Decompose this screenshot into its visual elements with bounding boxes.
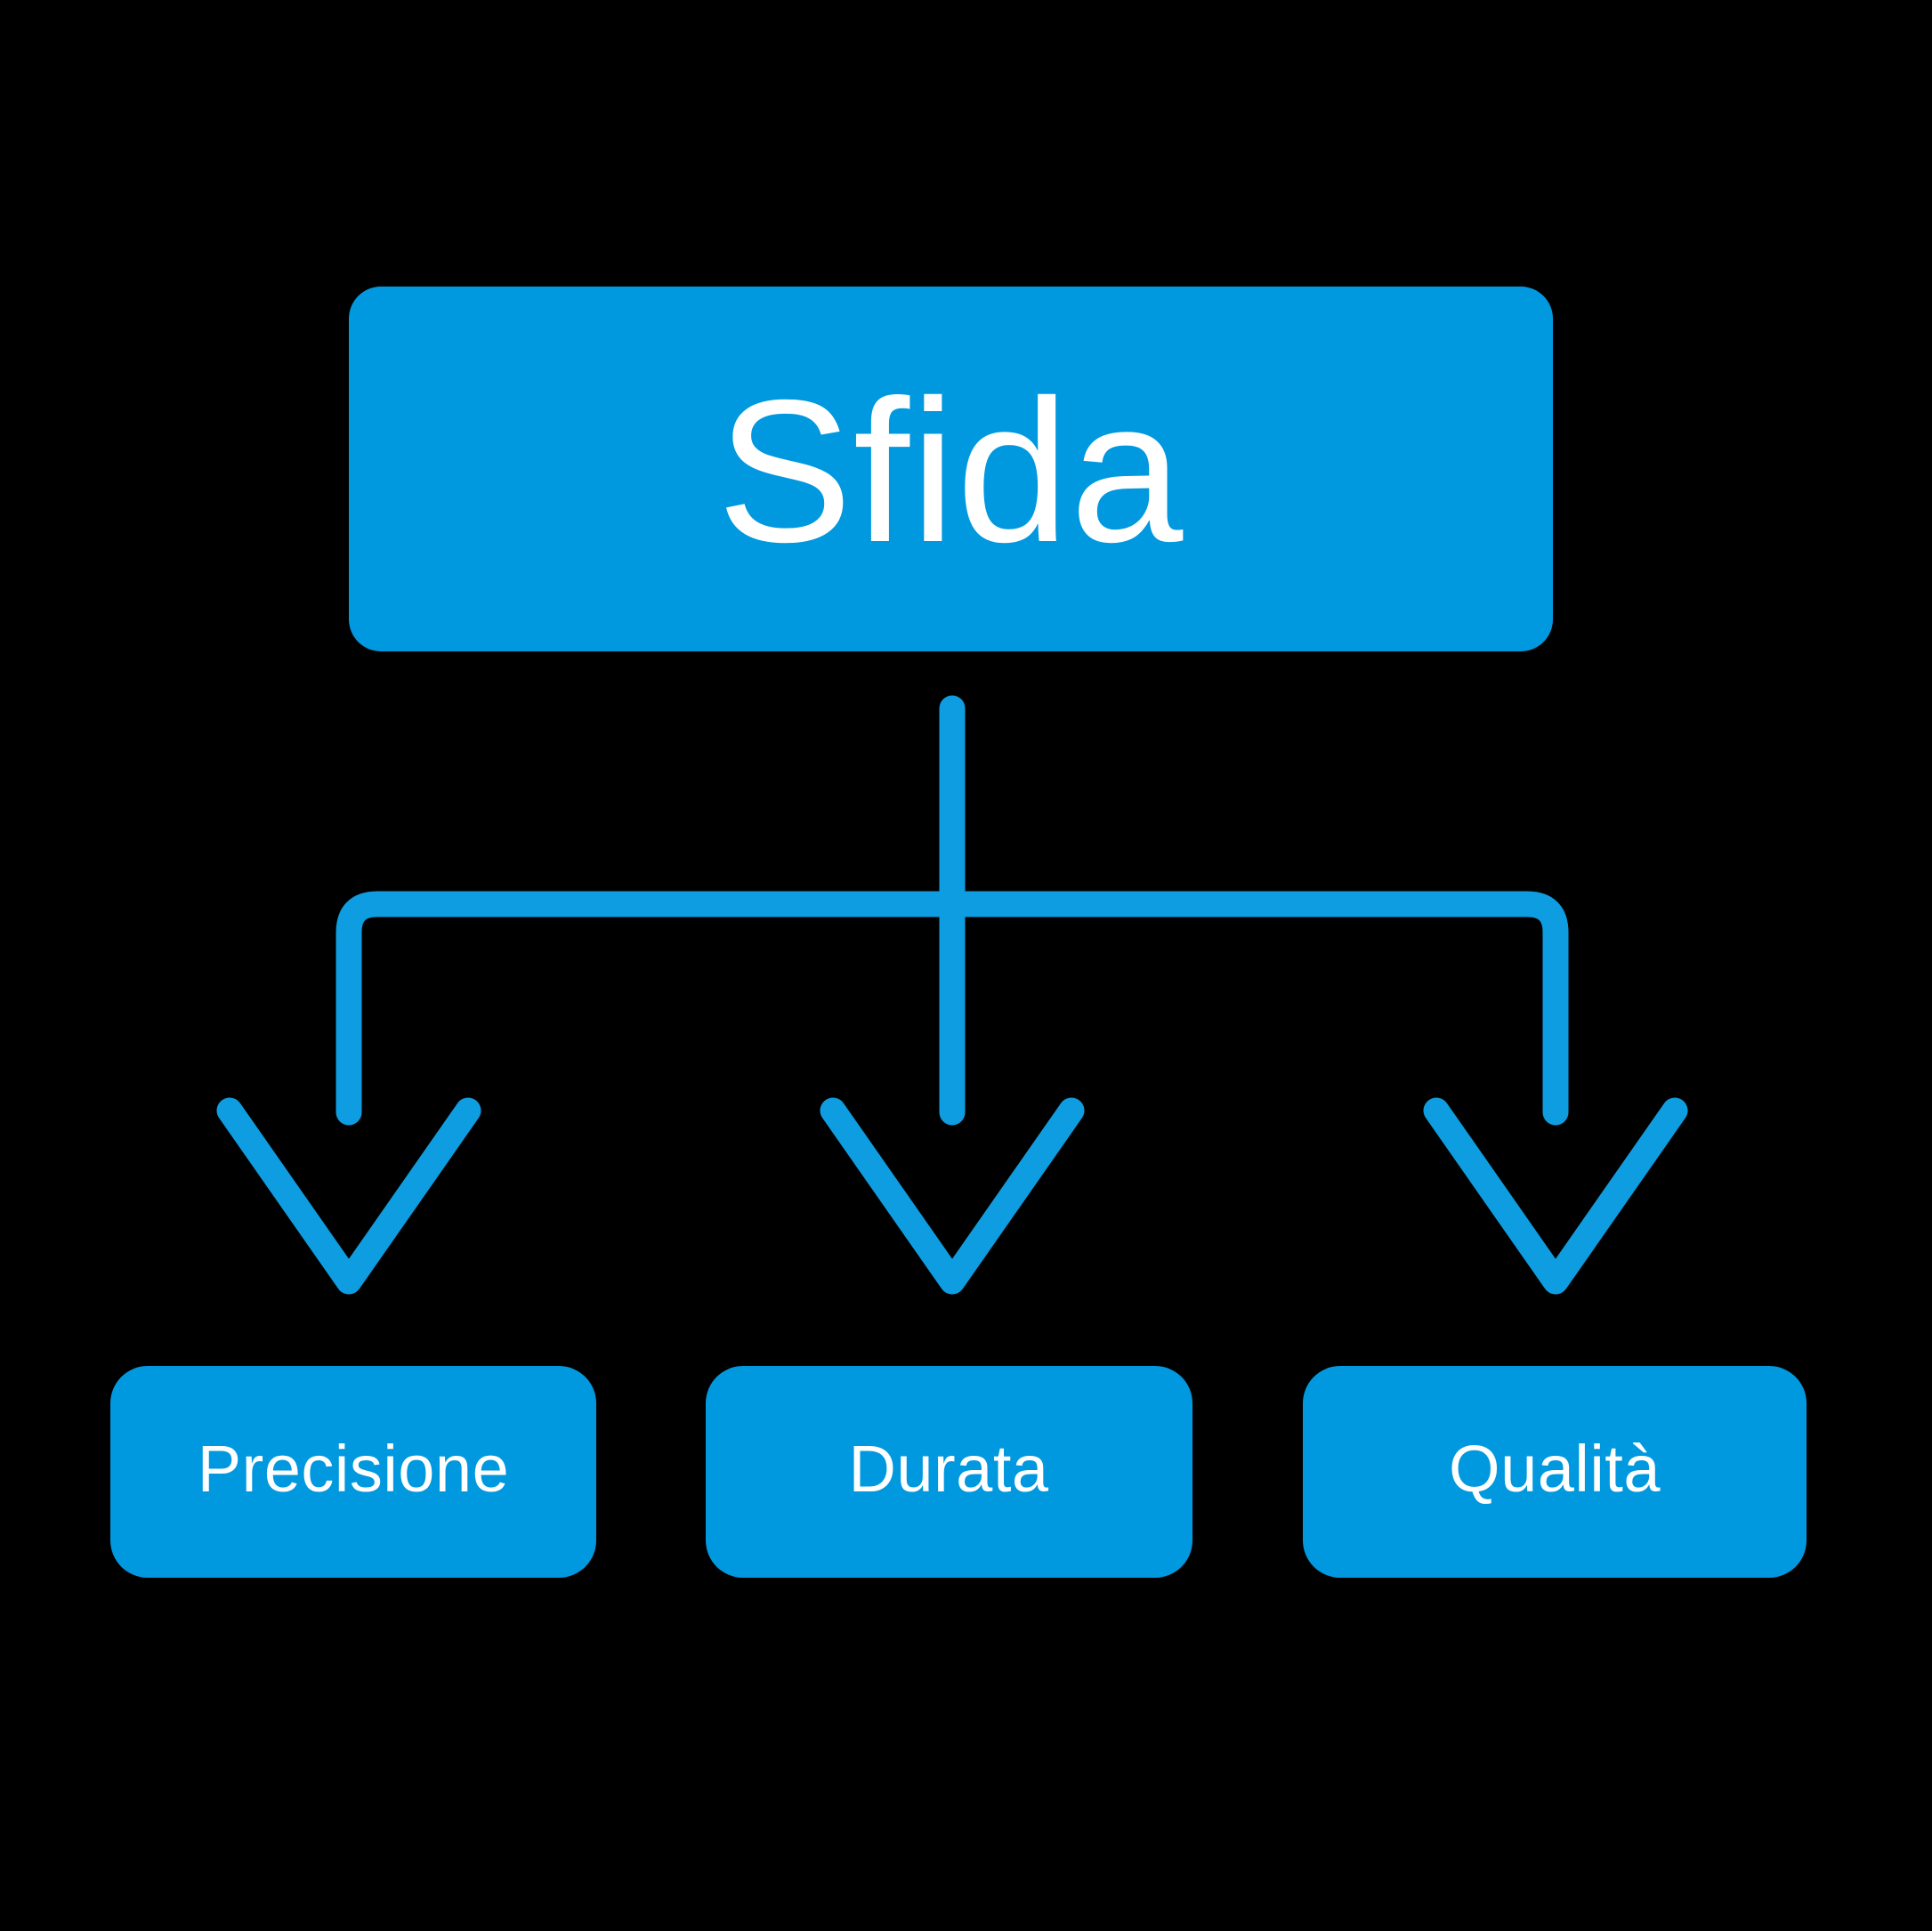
connector-bus-left <box>349 904 952 1112</box>
node-precisione[interactable]: Precisione <box>110 1366 596 1578</box>
node-precisione-label: Precisione <box>198 1432 510 1506</box>
node-sfida[interactable]: Sfida <box>349 287 1553 651</box>
connector-bus-right <box>952 904 1556 1112</box>
node-sfida-label: Sfida <box>717 359 1184 585</box>
node-durata-label: Durata <box>848 1432 1048 1506</box>
node-qualita-label: Qualità <box>1449 1432 1661 1506</box>
arrowhead-precisione-icon <box>230 1111 468 1281</box>
arrowhead-qualita-icon <box>1436 1111 1675 1281</box>
diagram-canvas: Sfida Precisione Durata Qualità <box>0 0 1932 1931</box>
connector-group <box>230 708 1675 1281</box>
node-durata[interactable]: Durata <box>706 1366 1192 1578</box>
node-qualita[interactable]: Qualità <box>1303 1366 1807 1578</box>
flowchart: Sfida Precisione Durata Qualità <box>0 0 1932 1931</box>
arrowhead-durata-icon <box>833 1111 1071 1281</box>
